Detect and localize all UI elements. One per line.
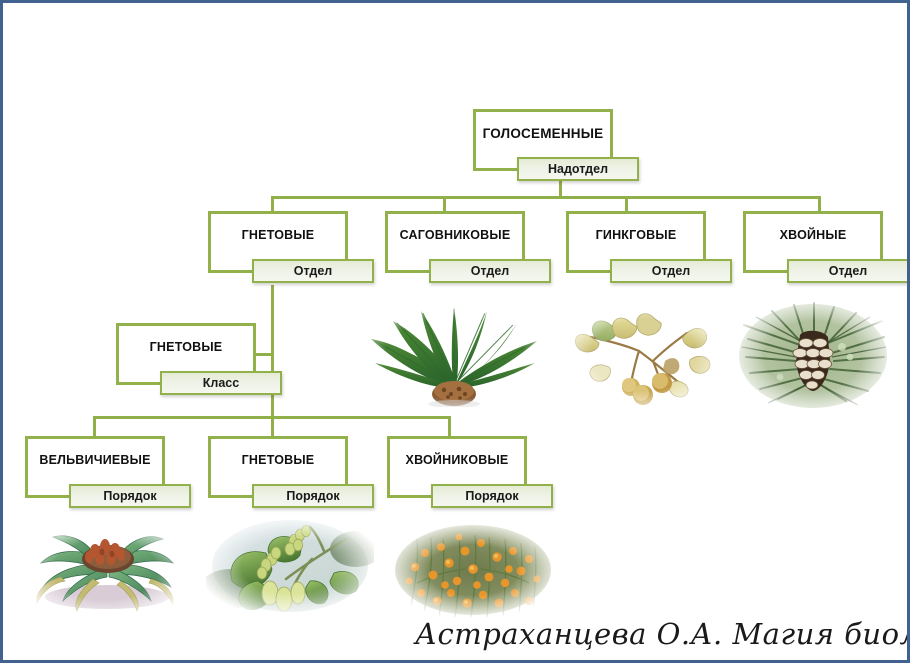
connector-gnetovye-trunk [271, 285, 274, 416]
connector-drop-hvoynye [818, 196, 821, 211]
node-hvoynikovye-title: ХВОЙНИКОВЫЕ [400, 454, 515, 468]
node-root-title: ГОЛОСЕМЕННЫЕ [477, 127, 610, 142]
node-gnetovye-poryadok-title: ГНЕТОВЫЕ [236, 454, 321, 468]
node-gnetovye-otdel-rank: Отдел [252, 259, 374, 283]
node-gnetovye-klass[interactable]: ГНЕТОВЫЕ Класс [116, 323, 256, 385]
image-efedra [389, 523, 557, 617]
node-hvoynye-otdel-rank: Отдел [787, 259, 909, 283]
node-velvichievye-poryadok[interactable]: ВЕЛЬВИЧИЕВЫЕ Порядок [25, 436, 165, 498]
node-ginkgovye-otdel-title: ГИНКГОВЫЕ [590, 229, 683, 243]
node-gnetovye-poryadok-rank: Порядок [252, 484, 374, 508]
node-hvoynye-otdel[interactable]: ХВОЙНЫЕ Отдел [743, 211, 883, 273]
connector-drop-ginkgovye [625, 196, 628, 211]
node-ginkgovye-otdel[interactable]: ГИНКГОВЫЕ Отдел [566, 211, 706, 273]
connector-drop-sagovnikovye [443, 196, 446, 211]
watermark-signature: Астраханцева О.А. Магия биологии [415, 617, 910, 651]
connector-root-stem [559, 179, 562, 197]
node-hvoynye-otdel-title: ХВОЙНЫЕ [774, 229, 853, 243]
connector-drop-gnetovye [271, 196, 274, 211]
node-velvichievye-title: ВЕЛЬВИЧИЕВЫЕ [33, 454, 156, 468]
image-velvichiya [23, 521, 187, 615]
image-gnetum [206, 519, 374, 613]
node-gnetovye-poryadok[interactable]: ГНЕТОВЫЕ Порядок [208, 436, 348, 498]
connector-drop-hvoynikovye [448, 416, 451, 436]
image-ginkgo [569, 303, 719, 407]
node-sagovnikovye-otdel-rank: Отдел [429, 259, 551, 283]
diagram-canvas: ГОЛОСЕМЕННЫЕ Надотдел ГНЕТОВЫЕ Отдел САГ… [0, 0, 910, 663]
node-sagovnikovye-otdel-title: САГОВНИКОВЫЕ [394, 229, 517, 243]
image-hvoynye [734, 299, 892, 413]
node-gnetovye-klass-rank: Класс [160, 371, 282, 395]
connector-level1-bus [271, 196, 821, 199]
node-root-rank: Надотдел [517, 157, 639, 181]
connector-drop-velvichievye [93, 416, 96, 436]
node-hvoynikovye-poryadok[interactable]: ХВОЙНИКОВЫЕ Порядок [387, 436, 527, 498]
node-gnetovye-klass-title: ГНЕТОВЫЕ [144, 341, 229, 355]
node-sagovnikovye-otdel[interactable]: САГОВНИКОВЫЕ Отдел [385, 211, 525, 273]
connector-drop-gnetovye-order [271, 416, 274, 436]
node-velvichievye-rank: Порядок [69, 484, 191, 508]
node-ginkgovye-otdel-rank: Отдел [610, 259, 732, 283]
node-gnetovye-otdel-title: ГНЕТОВЫЕ [236, 229, 321, 243]
node-gnetovye-otdel[interactable]: ГНЕТОВЫЕ Отдел [208, 211, 348, 273]
node-hvoynikovye-rank: Порядок [431, 484, 553, 508]
image-sagovnik [359, 299, 549, 407]
node-root-golosemennye[interactable]: ГОЛОСЕМЕННЫЕ Надотдел [473, 109, 613, 171]
